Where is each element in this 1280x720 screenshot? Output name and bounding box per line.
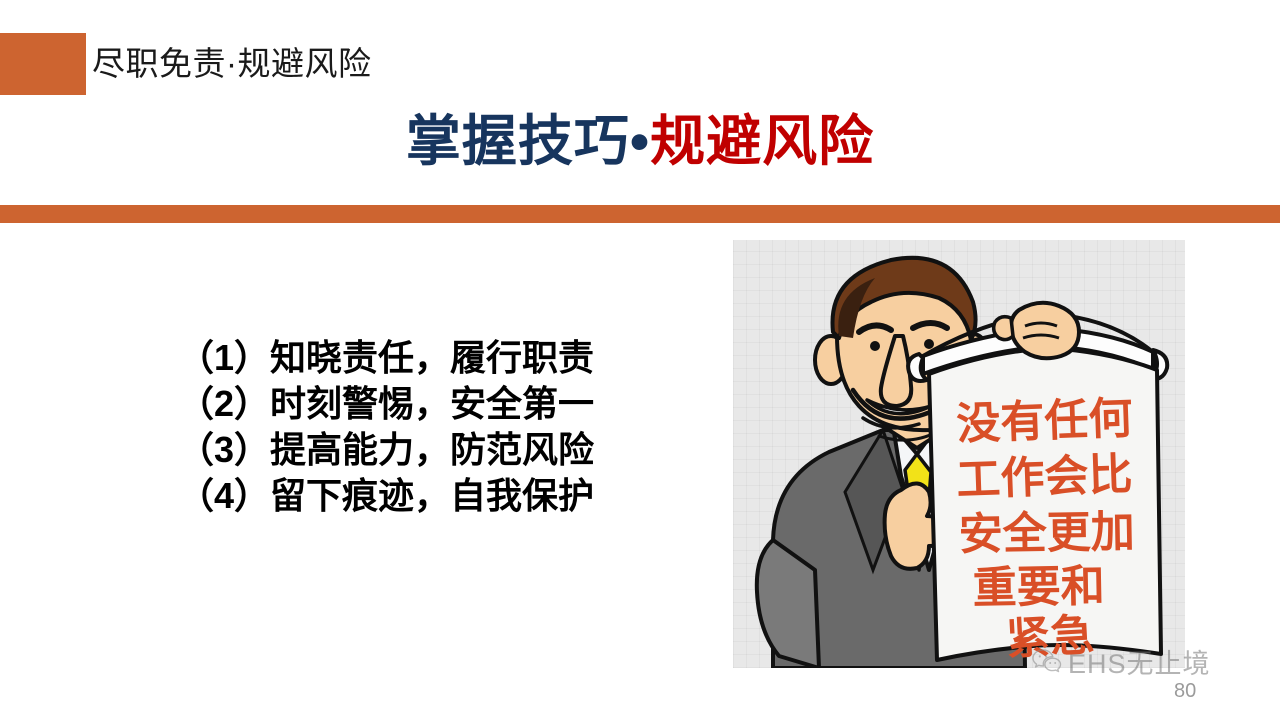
header-accent-block [0, 33, 86, 95]
list-item: （3）提高能力，防范风险 [178, 427, 698, 473]
list-item: （2）时刻警惕，安全第一 [178, 381, 698, 427]
header-divider-rule [0, 205, 1280, 223]
illustration-businessman-scroll: 没有任何 工作会比 安全更加 重要和 紧急 [733, 240, 1185, 668]
page-number: 80 [1174, 679, 1196, 703]
list-item: （1）知晓责任，履行职责 [178, 335, 698, 381]
watermark-label: EHS无止境 [1068, 649, 1211, 679]
list-item: （4）留下痕迹，自我保护 [178, 473, 698, 519]
wechat-icon [1032, 648, 1062, 679]
breadcrumb: 尽职免责·规避风险 [92, 38, 372, 90]
watermark: EHS无止境 [1032, 648, 1211, 679]
page-title-accent: 规避风险 [650, 110, 874, 172]
slide-header: 尽职免责·规避风险 掌握技巧•规避风险 [0, 0, 1280, 205]
page-title-primary: 掌握技巧 [406, 110, 630, 172]
scroll-text-line-2: 工作会比 [956, 449, 1134, 506]
page-title-separator: • [630, 110, 650, 172]
page-title: 掌握技巧•规避风险 [0, 108, 1280, 174]
cartoon-businessman-icon: 没有任何 工作会比 安全更加 重要和 紧急 [733, 240, 1185, 668]
scroll-text-line-1: 没有任何 [956, 393, 1134, 450]
scroll-text-line-4: 重要和 [972, 561, 1105, 614]
bullet-list: （1）知晓责任，履行职责 （2）时刻警惕，安全第一 （3）提高能力，防范风险 （… [178, 335, 698, 519]
scroll-text-line-3: 安全更加 [958, 506, 1135, 560]
